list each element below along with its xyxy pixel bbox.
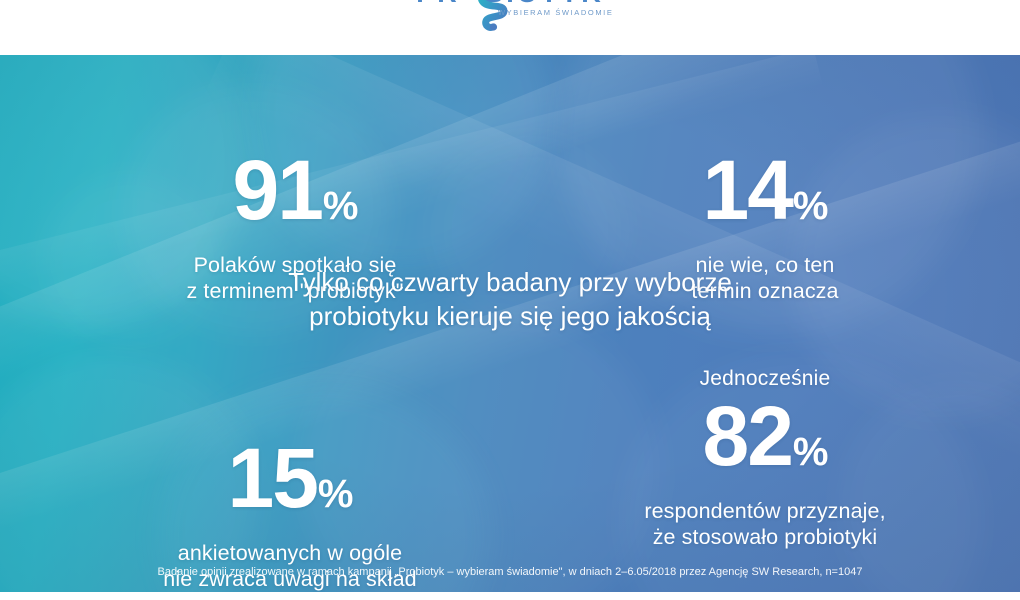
stat-number-91: 91% [105, 147, 485, 249]
stat-value: 82 [702, 389, 791, 483]
percent-sign: % [793, 430, 828, 474]
stat-number-82: 82% [565, 393, 965, 495]
headline-text: Tylko co czwarty badany przy wyborze pro… [110, 265, 910, 333]
infographic-panel: 91% Polaków spotkało się z terminem "pro… [0, 55, 1020, 592]
stat-value: 91 [232, 143, 321, 237]
intestine-gut-icon [470, 0, 512, 34]
stat-value: 15 [227, 431, 316, 525]
percent-sign: % [793, 184, 828, 228]
percent-sign: % [318, 472, 353, 516]
stat-value: 14 [702, 143, 791, 237]
brand-logo[interactable]: PROBIOTYK WYBIERAM ŚWIADOMIE [410, 0, 610, 36]
stat-number-14: 14% [575, 147, 955, 249]
stat-block-82: Jednocześnie 82% respondentów przyznaje,… [565, 367, 965, 550]
percent-sign: % [323, 184, 358, 228]
logo-wordmark-left: PR [416, 0, 460, 8]
stat-prelabel-82: Jednocześnie [565, 367, 965, 391]
source-footnote: Badanie opinii zrealizowane w ramach kam… [0, 565, 1020, 579]
stat-caption-82: respondentów przyznaje, że stosowało pro… [565, 498, 965, 550]
footer-white-band [0, 592, 1020, 600]
page-header: PROBIOTYK WYBIERAM ŚWIADOMIE [0, 0, 1020, 55]
stat-number-15: 15% [95, 435, 485, 537]
logo-tagline: WYBIERAM ŚWIADOMIE [498, 8, 613, 17]
